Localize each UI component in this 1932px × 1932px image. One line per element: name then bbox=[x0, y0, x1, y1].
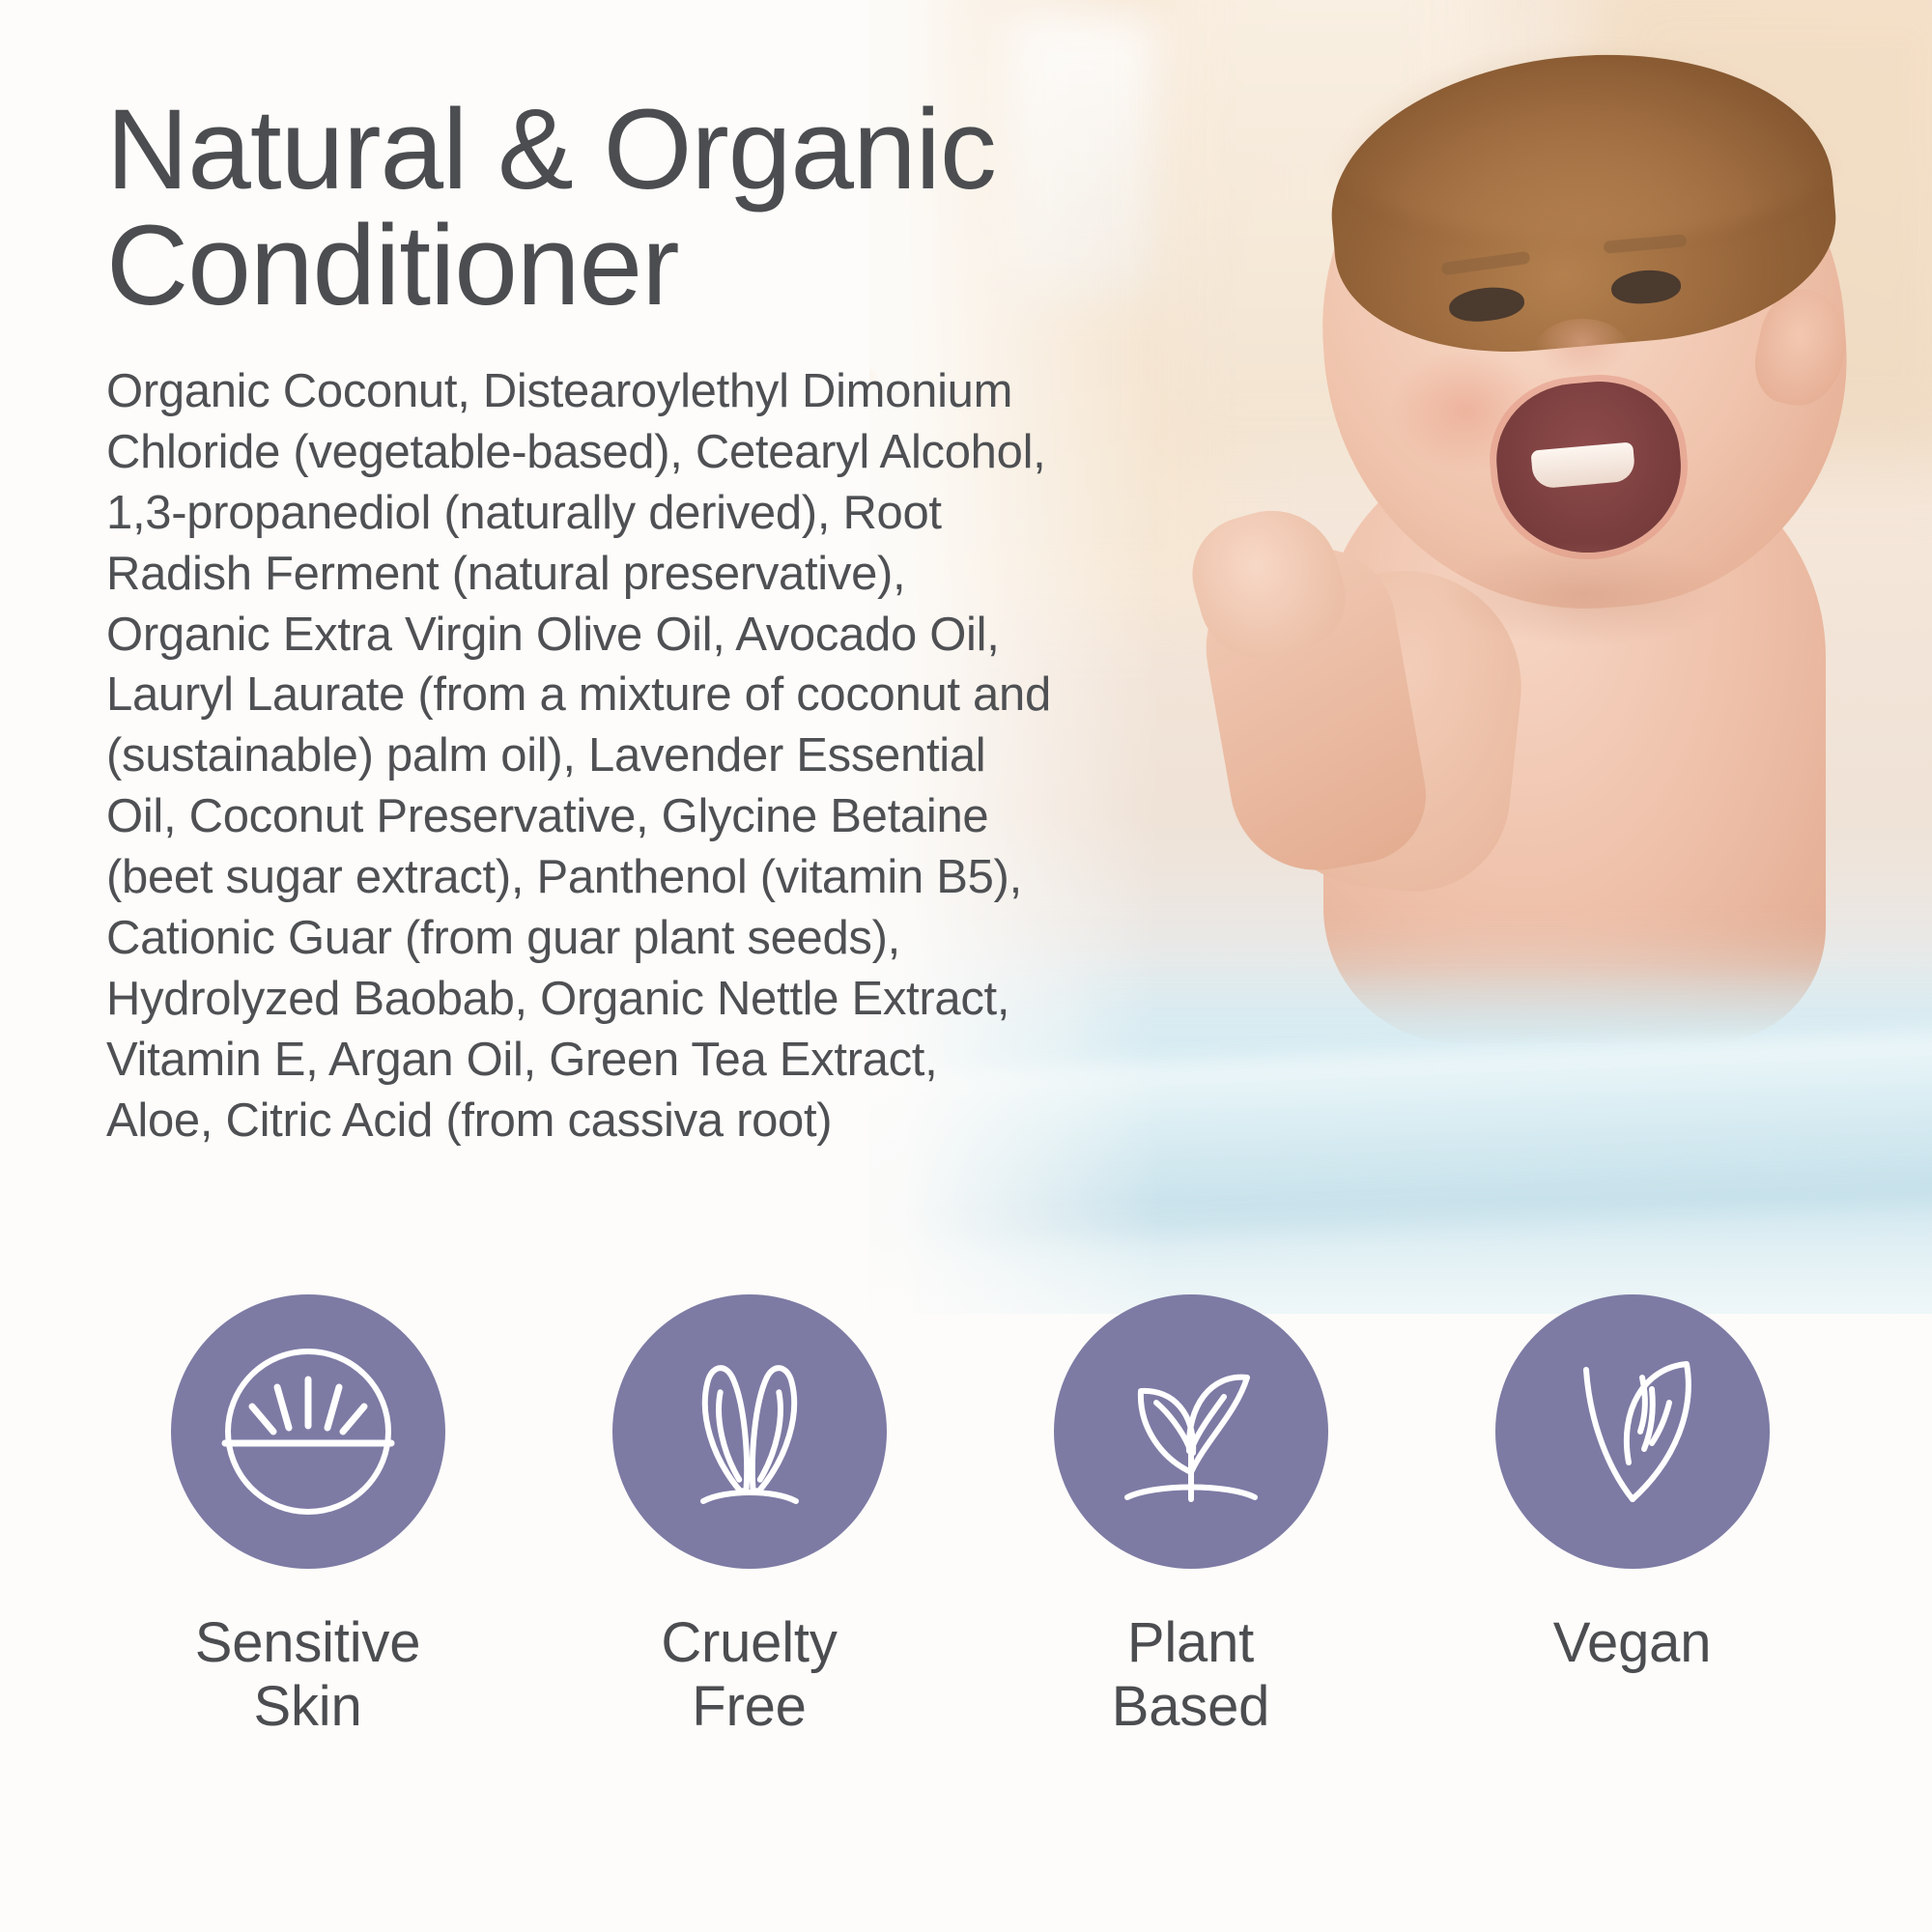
badge-vegan[interactable]: Vegan bbox=[1411, 1294, 1853, 1739]
sunrise-sensitive-skin-icon bbox=[212, 1335, 405, 1528]
badge-label-cruelty-free: Cruelty Free bbox=[661, 1611, 837, 1739]
baby-hair-wisps bbox=[1323, 46, 1845, 240]
badge-plant-based[interactable]: Plant Based bbox=[970, 1294, 1411, 1739]
badge-circle-cruelty-free bbox=[612, 1294, 887, 1569]
badge-label-sensitive-skin: Sensitive Skin bbox=[195, 1611, 421, 1739]
product-info-graphic: Natural & Organic Conditioner Organic Co… bbox=[0, 0, 1932, 1932]
badge-circle-vegan bbox=[1495, 1294, 1770, 1569]
sprout-leaves-plant-based-icon bbox=[1094, 1335, 1288, 1528]
badge-circle-sensitive-skin bbox=[171, 1294, 445, 1569]
page-title: Natural & Organic Conditioner bbox=[106, 92, 1024, 325]
certification-badges: Sensitive Skin Cruelty Free bbox=[87, 1294, 1855, 1739]
bunny-ears-cruelty-free-icon bbox=[653, 1335, 846, 1528]
badge-sensitive-skin[interactable]: Sensitive Skin bbox=[87, 1294, 528, 1739]
badge-label-vegan: Vegan bbox=[1553, 1611, 1712, 1675]
baby-nose bbox=[1536, 319, 1629, 379]
ingredients-list: Organic Coconut, Distearoylethyl Dimoniu… bbox=[106, 361, 1053, 1151]
badge-circle-plant-based bbox=[1054, 1294, 1328, 1569]
baby-chin-shadow bbox=[1439, 541, 1729, 647]
badge-label-plant-based: Plant Based bbox=[1112, 1611, 1269, 1739]
leaf-v-vegan-icon bbox=[1536, 1335, 1729, 1528]
badge-cruelty-free[interactable]: Cruelty Free bbox=[528, 1294, 970, 1739]
